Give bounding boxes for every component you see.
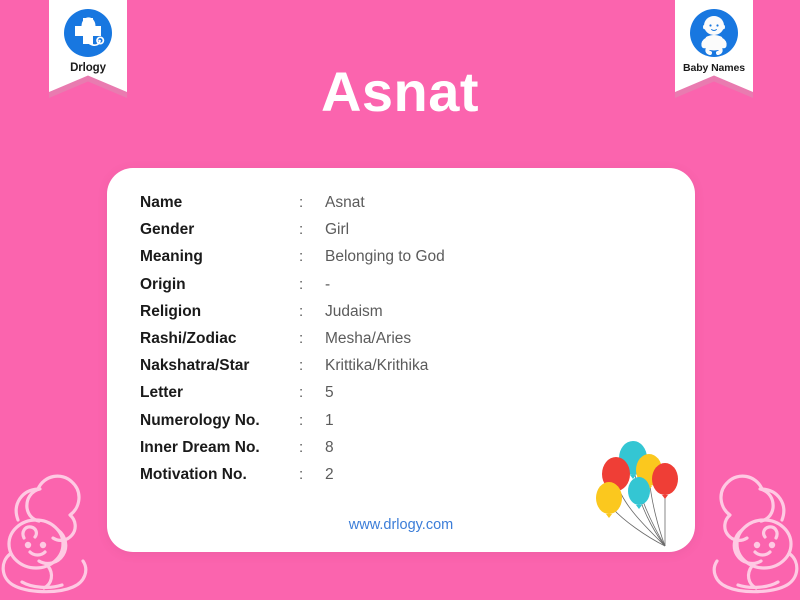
row-value: Judaism bbox=[325, 303, 383, 321]
row-colon: : bbox=[299, 439, 325, 456]
row-value: Mesha/Aries bbox=[325, 330, 411, 348]
name-details-card: Name : Asnat Gender : Girl Meaning : Bel… bbox=[107, 168, 695, 552]
row-value: 1 bbox=[325, 412, 334, 430]
row-value: Krittika/Krithika bbox=[325, 357, 428, 375]
badge-label-baby-names: Baby Names bbox=[683, 62, 745, 74]
row-colon: : bbox=[299, 384, 325, 401]
row-label: Inner Dream No. bbox=[140, 439, 299, 457]
badge-label-drlogy: Drlogy bbox=[70, 62, 106, 74]
table-row: Meaning : Belonging to God bbox=[140, 248, 445, 275]
poster-canvas: Drlogy Baby Names Asnat Name : Asnat bbox=[0, 0, 800, 600]
row-value: Belonging to God bbox=[325, 248, 445, 266]
row-label: Name bbox=[140, 194, 299, 212]
baby-icon bbox=[688, 7, 740, 59]
table-row: Rashi/Zodiac : Mesha/Aries bbox=[140, 330, 445, 357]
table-row: Numerology No. : 1 bbox=[140, 412, 445, 439]
row-label: Meaning bbox=[140, 248, 299, 266]
row-value: 5 bbox=[325, 384, 334, 402]
table-row: Letter : 5 bbox=[140, 384, 445, 411]
mother-and-baby-icon-left bbox=[0, 470, 108, 600]
row-value: - bbox=[325, 276, 330, 294]
row-value: 2 bbox=[325, 466, 334, 484]
row-value: Asnat bbox=[325, 194, 365, 212]
row-label: Motivation No. bbox=[140, 466, 299, 484]
row-label: Numerology No. bbox=[140, 412, 299, 430]
table-row: Motivation No. : 2 bbox=[140, 466, 445, 493]
table-row: Origin : - bbox=[140, 276, 445, 303]
row-colon: : bbox=[299, 276, 325, 293]
row-label: Rashi/Zodiac bbox=[140, 330, 299, 348]
details-table: Name : Asnat Gender : Girl Meaning : Bel… bbox=[140, 194, 445, 493]
row-colon: : bbox=[299, 194, 325, 211]
table-row: Religion : Judaism bbox=[140, 303, 445, 330]
row-label: Origin bbox=[140, 276, 299, 294]
row-label: Nakshatra/Star bbox=[140, 357, 299, 375]
row-label: Gender bbox=[140, 221, 299, 239]
row-label: Letter bbox=[140, 384, 299, 402]
row-label: Religion bbox=[140, 303, 299, 321]
row-colon: : bbox=[299, 357, 325, 374]
row-colon: : bbox=[299, 221, 325, 238]
row-value: Girl bbox=[325, 221, 349, 239]
row-colon: : bbox=[299, 330, 325, 347]
table-row: Name : Asnat bbox=[140, 194, 445, 221]
row-value: 8 bbox=[325, 439, 334, 457]
row-colon: : bbox=[299, 466, 325, 483]
balloons-icon bbox=[595, 434, 687, 552]
site-url[interactable]: www.drlogy.com bbox=[107, 517, 695, 533]
row-colon: : bbox=[299, 303, 325, 320]
table-row: Nakshatra/Star : Krittika/Krithika bbox=[140, 357, 445, 384]
mother-and-baby-icon-right bbox=[692, 470, 800, 600]
table-row: Inner Dream No. : 8 bbox=[140, 439, 445, 466]
row-colon: : bbox=[299, 412, 325, 429]
row-colon: : bbox=[299, 248, 325, 265]
doctor-stethoscope-icon bbox=[62, 7, 114, 59]
table-row: Gender : Girl bbox=[140, 221, 445, 248]
